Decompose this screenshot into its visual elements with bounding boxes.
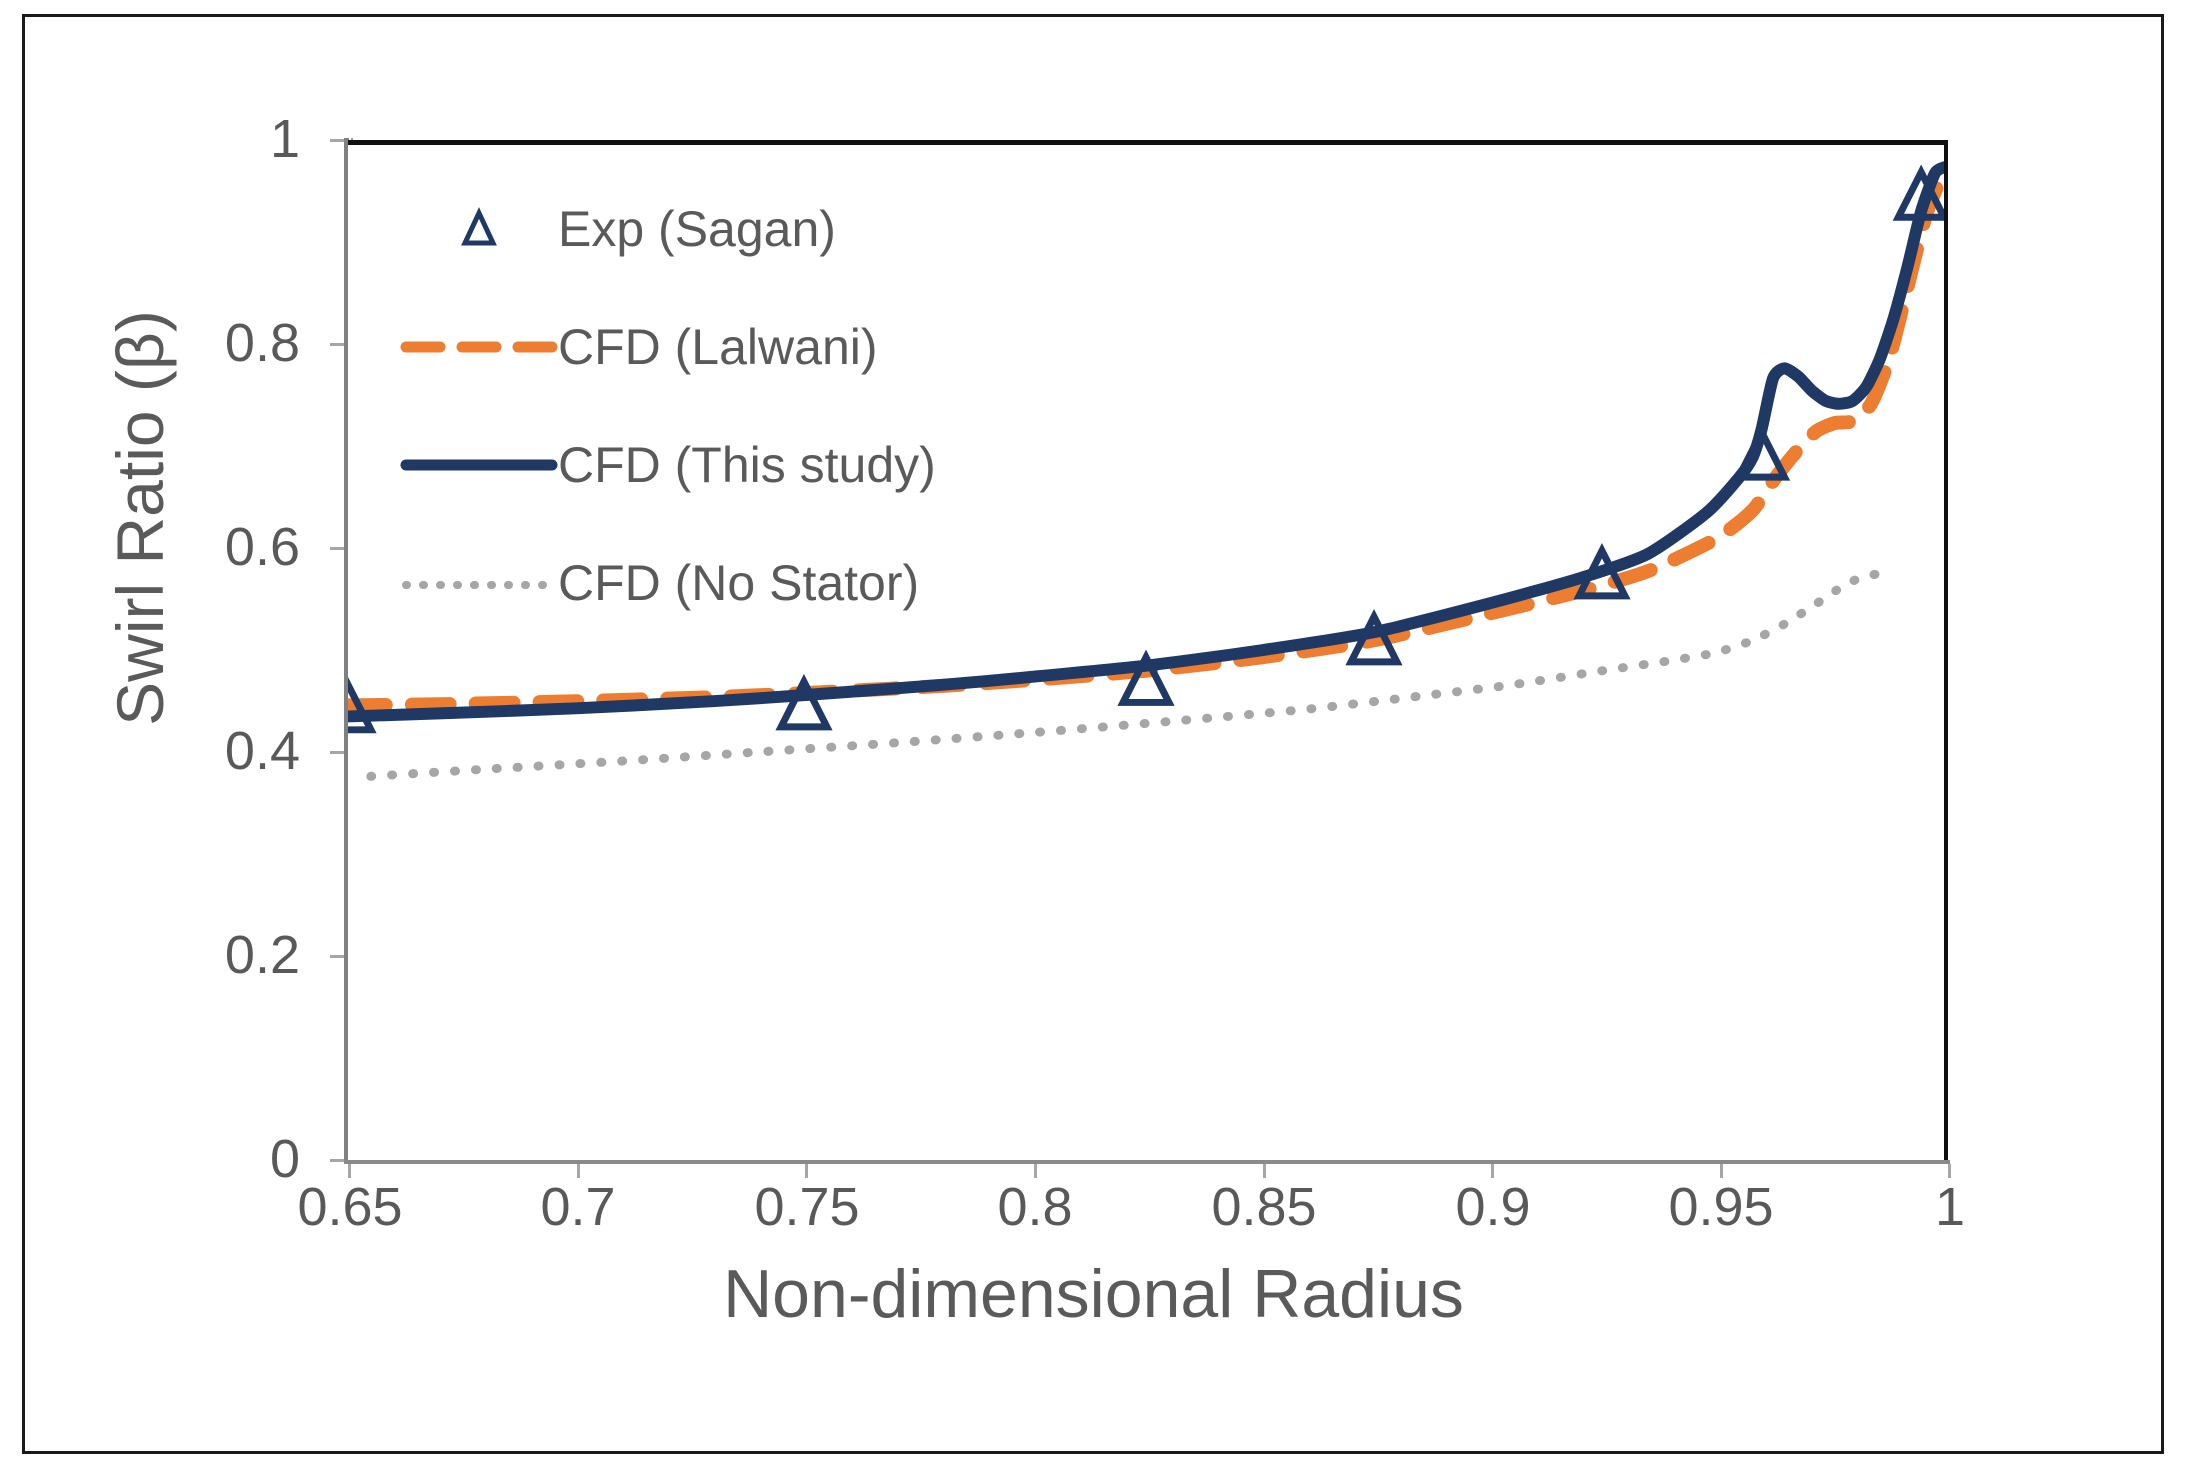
data-marker-exp-sagan: [1739, 432, 1785, 477]
x-tick-mark-0.8: [1034, 1164, 1037, 1178]
y-axis-title: Swirl Ratio (β): [102, 18, 178, 1018]
solid-line-icon: [400, 435, 558, 495]
y-tick-mark-1: [330, 139, 344, 142]
x-tick-mark-0.95: [1720, 1164, 1723, 1178]
x-tick-label-1: 1: [1800, 1180, 2100, 1234]
x-axis-title: Non-dimensional Radius: [0, 1255, 2187, 1333]
triangle-open-marker-icon: [400, 199, 558, 259]
dotted-line-icon: [400, 553, 558, 613]
legend-label-cfd-no-stator: CFD (No Stator): [558, 554, 919, 612]
y-tick-mark-0: [330, 1159, 344, 1162]
dashed-line-icon: [400, 317, 558, 377]
x-tick-mark-1: [1948, 1164, 1951, 1178]
y-tick-label-0: 0: [0, 1132, 300, 1186]
y-tick-mark-0.2: [330, 955, 344, 958]
x-tick-mark-0.65: [348, 1164, 351, 1178]
chart-legend: Exp (Sagan) CFD (Lalwani) CFD (This stud…: [400, 170, 1020, 642]
legend-item-cfd-lalwani[interactable]: CFD (Lalwani): [400, 288, 1020, 406]
y-tick-mark-0.8: [330, 343, 344, 346]
x-axis-line: [344, 1160, 1950, 1164]
y-tick-mark-0.4: [330, 751, 344, 754]
x-tick-mark-0.7: [577, 1164, 580, 1178]
x-tick-mark-0.75: [805, 1164, 808, 1178]
legend-item-cfd-this-study[interactable]: CFD (This study): [400, 406, 1020, 524]
legend-label-cfd-this-study: CFD (This study): [558, 436, 936, 494]
legend-item-cfd-no-stator[interactable]: CFD (No Stator): [400, 524, 1020, 642]
legend-item-exp-sagan[interactable]: Exp (Sagan): [400, 170, 1020, 288]
legend-label-exp-sagan: Exp (Sagan): [558, 200, 836, 258]
x-tick-mark-0.9: [1491, 1164, 1494, 1178]
x-tick-mark-0.85: [1263, 1164, 1266, 1178]
chart-figure: 1 0.8 0.6 0.4 0.2 0 0.65 0.7 0.75 0.8 0.…: [0, 0, 2187, 1472]
y-tick-mark-0.6: [330, 547, 344, 550]
legend-label-cfd-lalwani: CFD (Lalwani): [558, 318, 878, 376]
